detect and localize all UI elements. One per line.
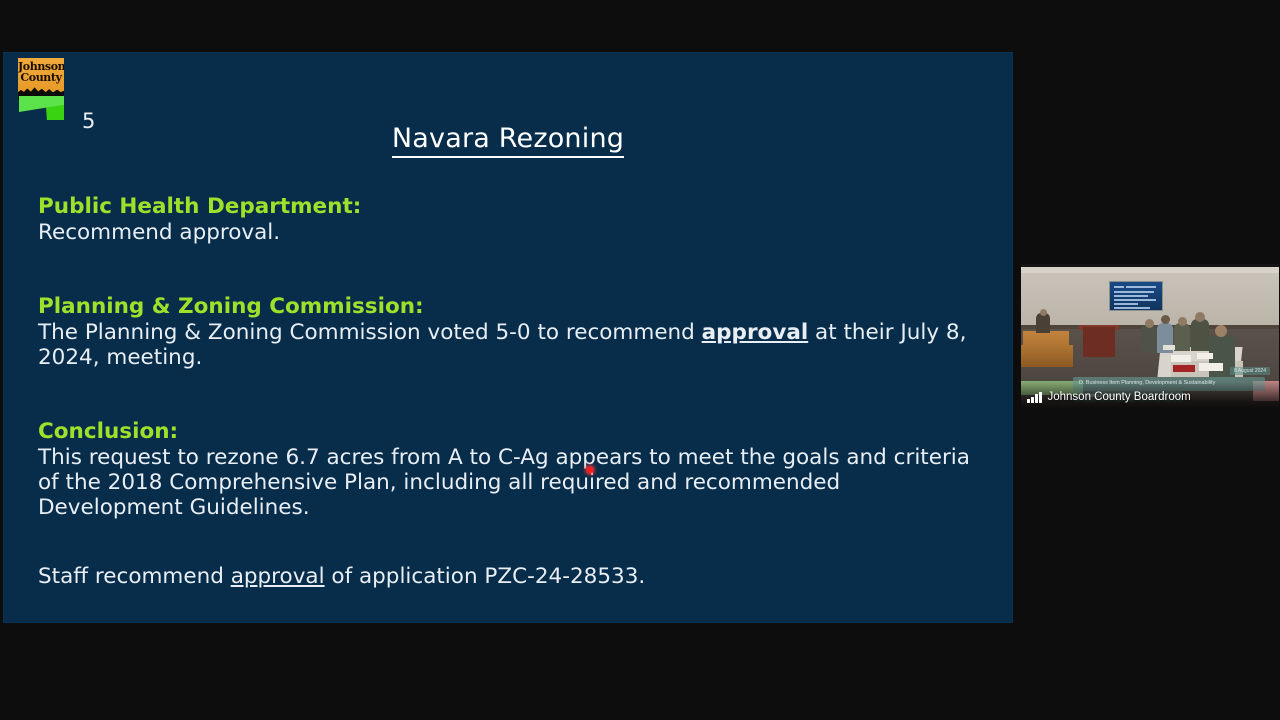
video-attendee-head [1195, 312, 1205, 322]
video-folder [1173, 365, 1195, 372]
staff-rec-post: of application PZC-24-28533. [325, 564, 646, 589]
video-attendee-head [1161, 315, 1170, 324]
video-podium-base [1021, 345, 1073, 367]
video-overlay-date: 8 August 2024 [1230, 367, 1270, 375]
johnson-county-logo-icon: Johnson County [18, 58, 64, 120]
section-heading-conclusion: Conclusion: [38, 418, 988, 445]
staff-rec-pre: Staff recommend [38, 564, 231, 589]
section-heading-planning-zoning: Planning & Zoning Commission: [38, 293, 988, 320]
staff-recommendation: Staff recommend approval of application … [38, 564, 988, 589]
video-side-table [1083, 327, 1115, 357]
video-person-head [1040, 309, 1047, 316]
logo-crest: Johnson County [18, 58, 64, 92]
video-paper [1171, 355, 1191, 362]
section-conclusion: Conclusion: This request to rezone 6.7 a… [38, 418, 988, 520]
video-attendee-head [1145, 319, 1154, 328]
video-speaker-head [1215, 325, 1227, 337]
logo-text-line2: County [18, 72, 64, 83]
screen: Johnson County 5 Navara Rezoning Public … [0, 0, 1280, 720]
slide-header: Johnson County 5 Navara Rezoning [4, 53, 1012, 125]
spacer [38, 520, 988, 564]
section-body-planning-zoning: The Planning & Zoning Commission voted 5… [38, 320, 988, 370]
page-title-text: Navara Rezoning [392, 123, 624, 158]
video-paper [1197, 353, 1213, 359]
slide-body: Public Health Department: Recommend appr… [38, 193, 988, 589]
video-paper [1163, 345, 1175, 350]
video-source-label: Johnson County Boardroom [1023, 388, 1191, 406]
section-body-public-health: Recommend approval. [38, 220, 988, 245]
signal-bars-icon [1027, 392, 1042, 403]
page-title: Navara Rezoning [4, 123, 1012, 154]
video-source-label-text: Johnson County Boardroom [1048, 391, 1191, 403]
video-wall-display [1109, 281, 1163, 311]
video-attendee [1174, 323, 1190, 351]
video-person-podium [1036, 313, 1050, 333]
section-public-health: Public Health Department: Recommend appr… [38, 193, 988, 245]
section-body-conclusion: This request to rezone 6.7 acres from A … [38, 445, 988, 520]
spacer [38, 245, 988, 293]
video-attendee [1191, 319, 1209, 351]
pz-body-pre: The Planning & Zoning Commission voted 5… [38, 320, 702, 345]
video-attendee [1141, 325, 1157, 353]
presentation-slide: Johnson County 5 Navara Rezoning Public … [4, 53, 1012, 622]
video-scene: 8 August 2024 D. Business Item Planning,… [1021, 267, 1279, 410]
video-paper [1199, 363, 1223, 371]
staff-rec-emphasis: approval [231, 564, 325, 589]
pz-body-emphasis: approval [702, 320, 809, 345]
section-heading-public-health: Public Health Department: [38, 193, 988, 220]
section-planning-zoning: Planning & Zoning Commission: The Planni… [38, 293, 988, 370]
spacer [38, 370, 988, 418]
video-thumbnail[interactable]: 8 August 2024 D. Business Item Planning,… [1021, 264, 1279, 410]
video-attendee-head [1178, 317, 1187, 326]
video-ceiling [1021, 267, 1279, 273]
